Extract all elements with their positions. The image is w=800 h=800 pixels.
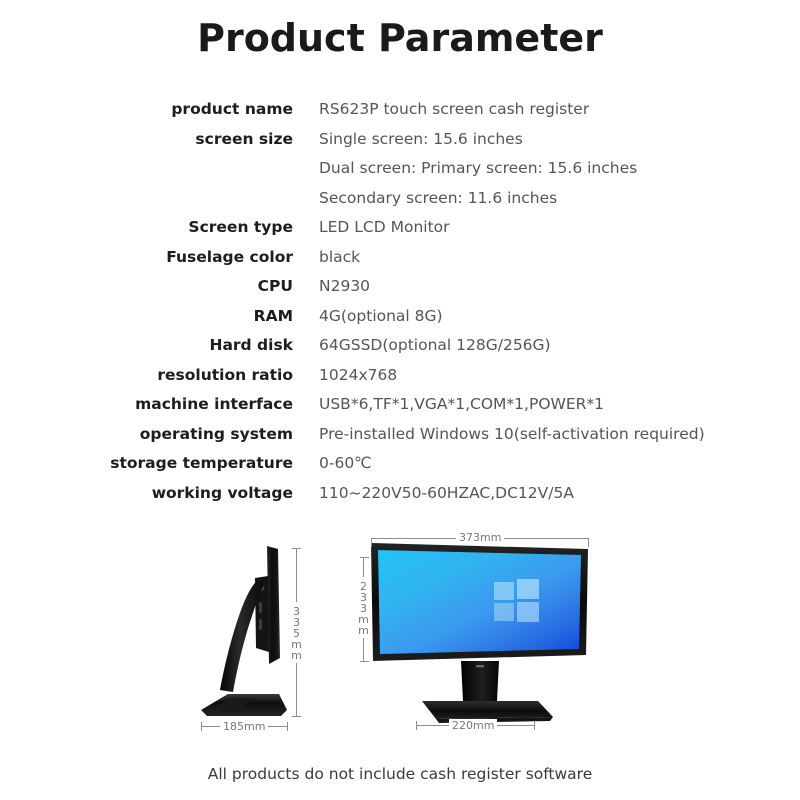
table-row: Dual screen: Primary screen: 15.6 inches [0, 159, 800, 189]
product-figures: 335mm 185mm [0, 530, 800, 745]
spec-label: screen size [0, 130, 293, 148]
spec-value: Single screen: 15.6 inches [293, 130, 523, 148]
spec-label: resolution ratio [0, 366, 293, 384]
width-dimension-label: 373mm [456, 531, 504, 544]
spec-label: Hard disk [0, 336, 293, 354]
table-row: machine interface USB*6,TF*1,VGA*1,COM*1… [0, 395, 800, 425]
dimension-cap [360, 661, 369, 662]
dimension-cap [588, 538, 589, 547]
table-row: product name RS623P touch screen cash re… [0, 100, 800, 130]
table-row: Secondary screen: 11.6 inches [0, 189, 800, 219]
spec-label: CPU [0, 277, 293, 295]
spec-label: working voltage [0, 484, 293, 502]
spec-label: storage temperature [0, 454, 293, 472]
table-row: RAM 4G(optional 8G) [0, 307, 800, 337]
spec-value: 0-60℃ [293, 454, 372, 472]
dimension-cap [360, 557, 369, 558]
height-dimension-label: 335mm [290, 602, 303, 663]
dimension-cap [201, 722, 202, 731]
spec-value: 110~220V50-60HZAC,DC12V/5A [293, 484, 574, 502]
spec-value: Secondary screen: 11.6 inches [293, 189, 557, 207]
dimension-cap [292, 716, 301, 717]
spec-table: product name RS623P touch screen cash re… [0, 100, 800, 513]
spec-value: N2930 [293, 277, 370, 295]
table-row: CPU N2930 [0, 277, 800, 307]
spec-label: machine interface [0, 395, 293, 413]
spec-label: operating system [0, 425, 293, 443]
port-slot [259, 602, 262, 613]
dimension-cap [371, 538, 372, 547]
table-row: working voltage 110~220V50-60HZAC,DC12V/… [0, 484, 800, 514]
front-view-figure: 373mm 233mm 220mm [360, 535, 600, 730]
panel-side-profile [267, 546, 280, 664]
spec-value: Dual screen: Primary screen: 15.6 inches [293, 159, 637, 177]
stand-base [422, 701, 553, 719]
spec-value: USB*6,TF*1,VGA*1,COM*1,POWER*1 [293, 395, 604, 413]
table-row: screen size Single screen: 15.6 inches [0, 130, 800, 160]
dimension-cap [534, 721, 535, 730]
footer-note: All products do not include cash registe… [0, 765, 800, 783]
screen-height-dimension-label: 233mm [357, 577, 370, 638]
status-indicator [476, 665, 484, 667]
table-row: Fuselage color black [0, 248, 800, 278]
table-row: storage temperature 0-60℃ [0, 454, 800, 484]
dimension-cap [416, 721, 417, 730]
spec-label: product name [0, 100, 293, 118]
dimension-cap [287, 722, 288, 731]
front-view-image [360, 535, 600, 730]
page-title: Product Parameter [0, 16, 800, 60]
spec-value: 1024x768 [293, 366, 397, 384]
table-row: Hard disk 64GSSD(optional 128G/256G) [0, 336, 800, 366]
screen-glow [378, 550, 581, 654]
spec-label: RAM [0, 307, 293, 325]
spec-value: LED LCD Monitor [293, 218, 450, 236]
side-view-image [195, 540, 305, 725]
spec-value: 4G(optional 8G) [293, 307, 443, 325]
base-width-dimension-label: 220mm [449, 719, 497, 732]
table-row: resolution ratio 1024x768 [0, 366, 800, 396]
dimension-cap [292, 548, 301, 549]
spec-value: Pre-installed Windows 10(self-activation… [293, 425, 705, 443]
port-slot [259, 619, 262, 630]
spec-label: Fuselage color [0, 248, 293, 266]
spec-value: RS623P touch screen cash register [293, 100, 589, 118]
side-view-figure: 335mm 185mm [195, 540, 305, 725]
depth-dimension-label: 185mm [220, 720, 268, 733]
table-row: Screen type LED LCD Monitor [0, 218, 800, 248]
table-row: operating system Pre-installed Windows 1… [0, 425, 800, 455]
spec-value: 64GSSD(optional 128G/256G) [293, 336, 551, 354]
spec-value: black [293, 248, 360, 266]
spec-label: Screen type [0, 218, 293, 236]
